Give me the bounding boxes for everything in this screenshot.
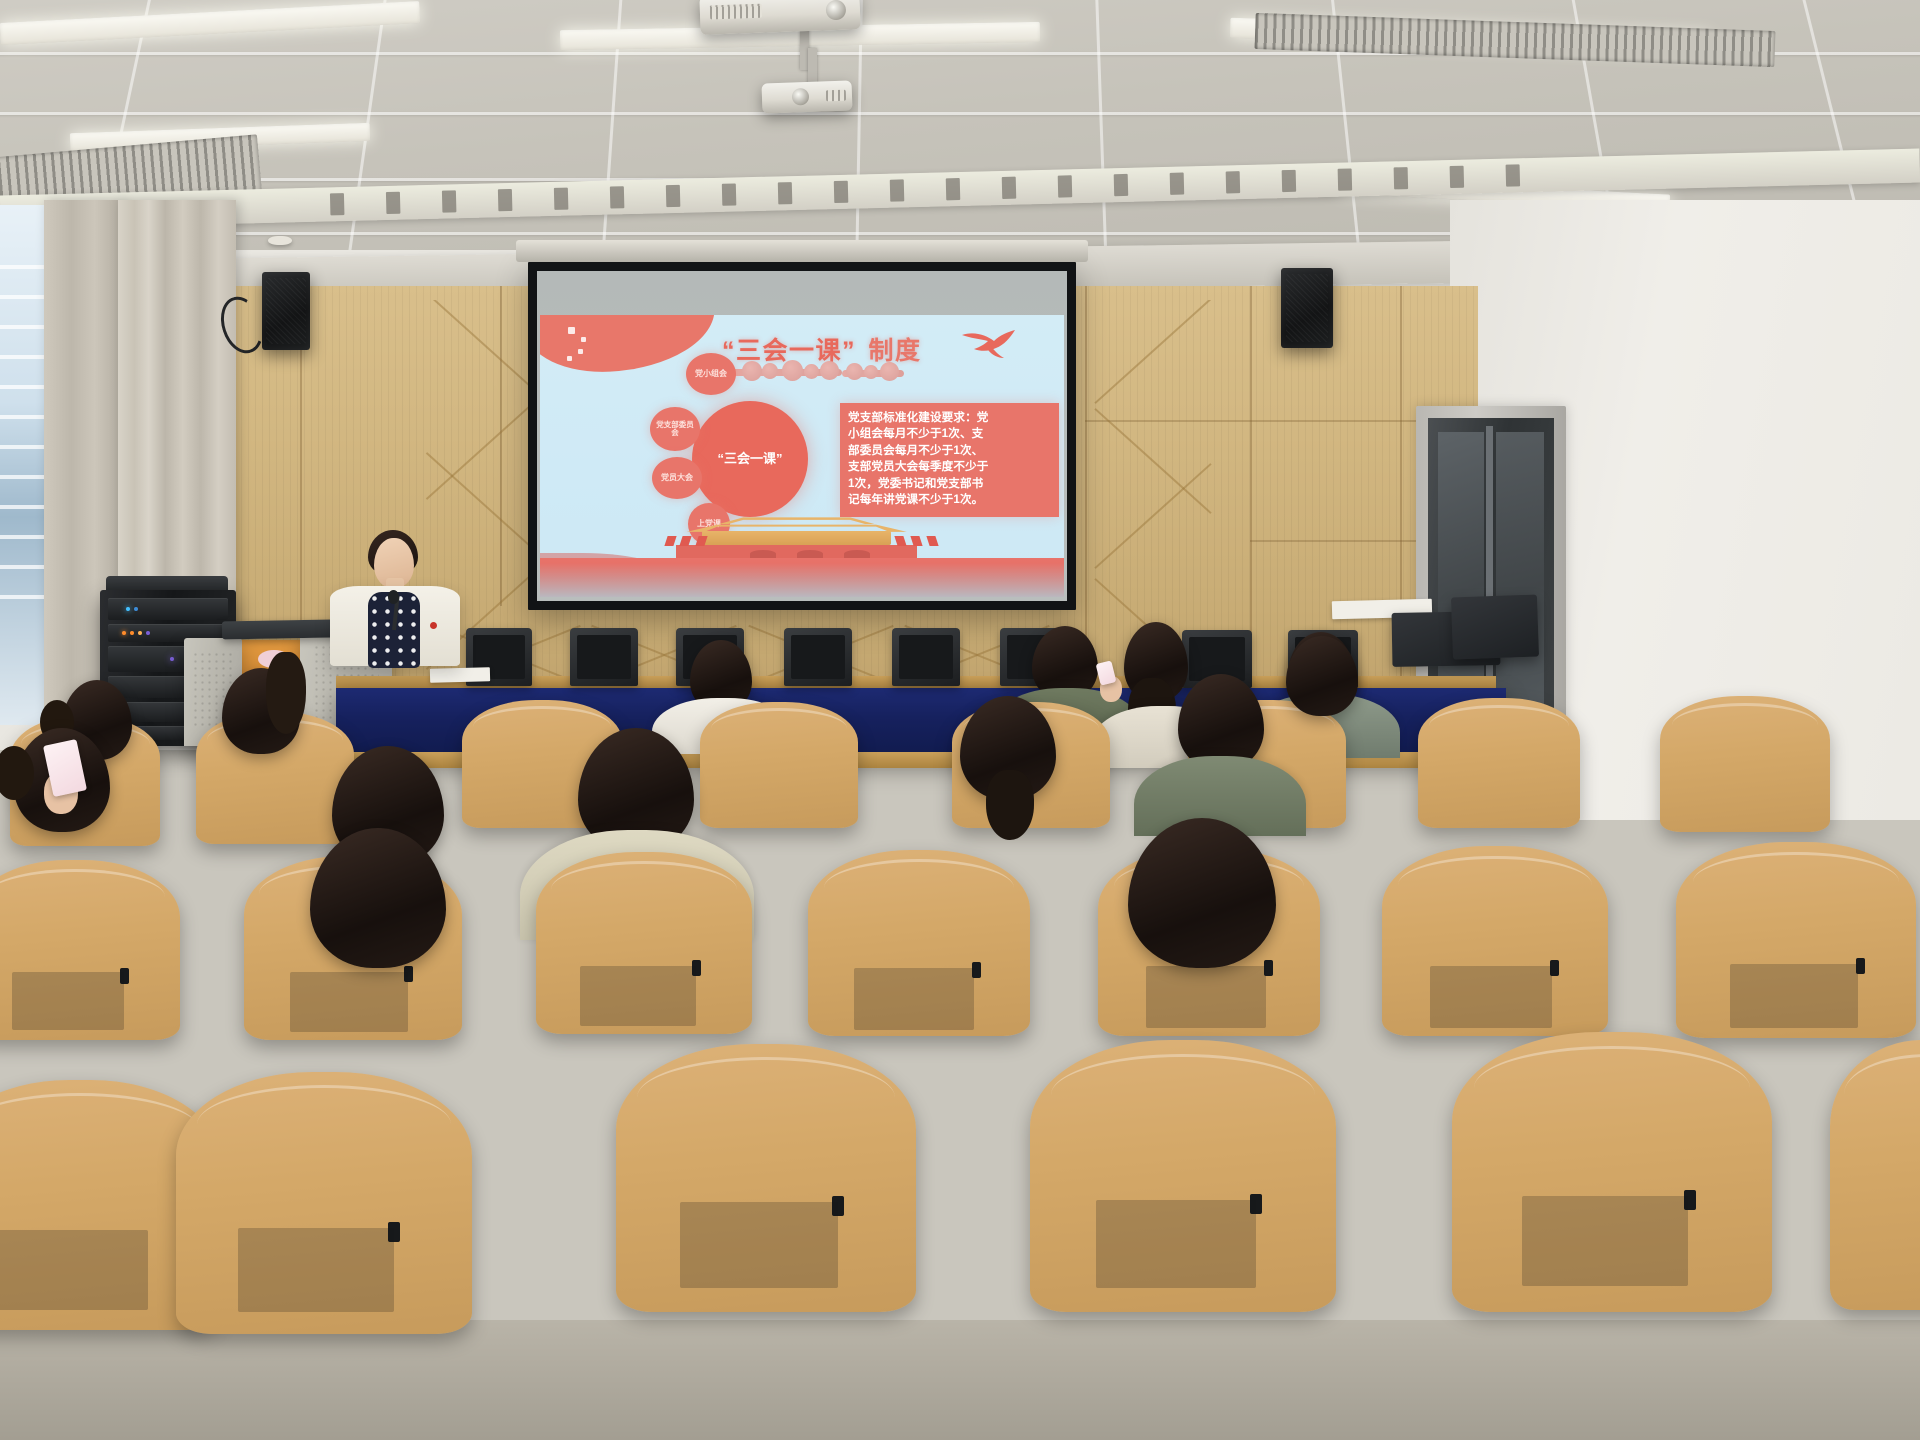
air-vent — [1255, 13, 1776, 67]
tiananmen-illustration — [540, 512, 1064, 597]
meeting-chair[interactable] — [570, 628, 638, 686]
projection-screen: “三会一课”制度 — [528, 262, 1076, 610]
auditorium-chair[interactable] — [1382, 846, 1608, 1036]
auspicious-cloud-ornament — [726, 361, 846, 379]
bubble-center-label: “三会一课” — [717, 452, 782, 467]
info-line: 小组会每月不少于1次、支 — [848, 426, 1052, 442]
attendee-ponytail — [266, 652, 306, 734]
attendee-head — [1128, 818, 1276, 968]
bubble-label: 党支部委员会 — [653, 421, 697, 438]
auditorium-chair[interactable] — [1676, 842, 1916, 1038]
auditorium-chair[interactable] — [536, 852, 752, 1034]
presenter-badge — [430, 622, 437, 629]
flat-panel-monitor — [1451, 595, 1539, 660]
meeting-chair[interactable] — [892, 628, 960, 686]
bubble-center: “三会一课” — [692, 401, 808, 517]
wall-speaker-left — [262, 272, 310, 350]
dove-icon — [960, 327, 1016, 366]
auditorium-chair[interactable] — [700, 702, 858, 828]
microphone-head-icon — [388, 590, 399, 604]
ceiling-light-panel — [0, 1, 420, 45]
auditorium-chair[interactable] — [1452, 1032, 1772, 1312]
info-line: 支部党员大会每季度不少于 — [848, 459, 1052, 475]
auditorium-chair[interactable] — [1830, 1040, 1920, 1310]
auditorium-chair[interactable] — [176, 1072, 472, 1334]
slide-title-tail: 制度 — [869, 337, 922, 365]
auditorium-chair[interactable] — [1030, 1040, 1336, 1312]
presentation-slide: “三会一课”制度 — [540, 315, 1064, 597]
screen-housing — [516, 240, 1088, 262]
info-line: 记每年讲党课不少于1次。 — [848, 492, 1052, 508]
meeting-chair[interactable] — [784, 628, 852, 686]
document-stack — [430, 667, 490, 683]
auditorium-chair[interactable] — [1660, 696, 1830, 832]
auditorium-chair[interactable] — [1418, 698, 1580, 828]
meeting-room-photo: “三会一课”制度 — [0, 0, 1920, 1440]
bubble-label: 党小组会 — [695, 370, 727, 379]
auditorium-chair[interactable] — [616, 1044, 916, 1312]
ceiling-projector — [699, 0, 860, 35]
attendee-ponytail — [986, 770, 1034, 840]
floor — [0, 1320, 1920, 1440]
wall-speaker-right — [1281, 268, 1333, 348]
bubble-dangyuandahui: 党员大会 — [652, 457, 702, 499]
auditorium-chair[interactable] — [808, 850, 1030, 1036]
slide-info-box: 党支部标准化建设要求：党 小组会每月不少于1次、支 部委员会每月不少于1次、 支… — [840, 403, 1059, 517]
auditorium-chair[interactable] — [0, 860, 180, 1040]
info-line: 1次，党委书记和党支部书 — [848, 476, 1052, 492]
bubble-label: 党员大会 — [661, 474, 693, 483]
smoke-detector-icon — [268, 236, 292, 245]
info-line: 党支部标准化建设要求：党 — [848, 410, 1052, 426]
info-line: 部委员会每月不少于1次、 — [848, 443, 1052, 459]
ceiling-projector — [762, 80, 853, 113]
auspicious-cloud-ornament — [840, 363, 906, 381]
bubble-zhibuweiyuanhui: 党支部委员会 — [650, 407, 700, 451]
bubble-dangxiaozuhui: 党小组会 — [686, 353, 736, 395]
